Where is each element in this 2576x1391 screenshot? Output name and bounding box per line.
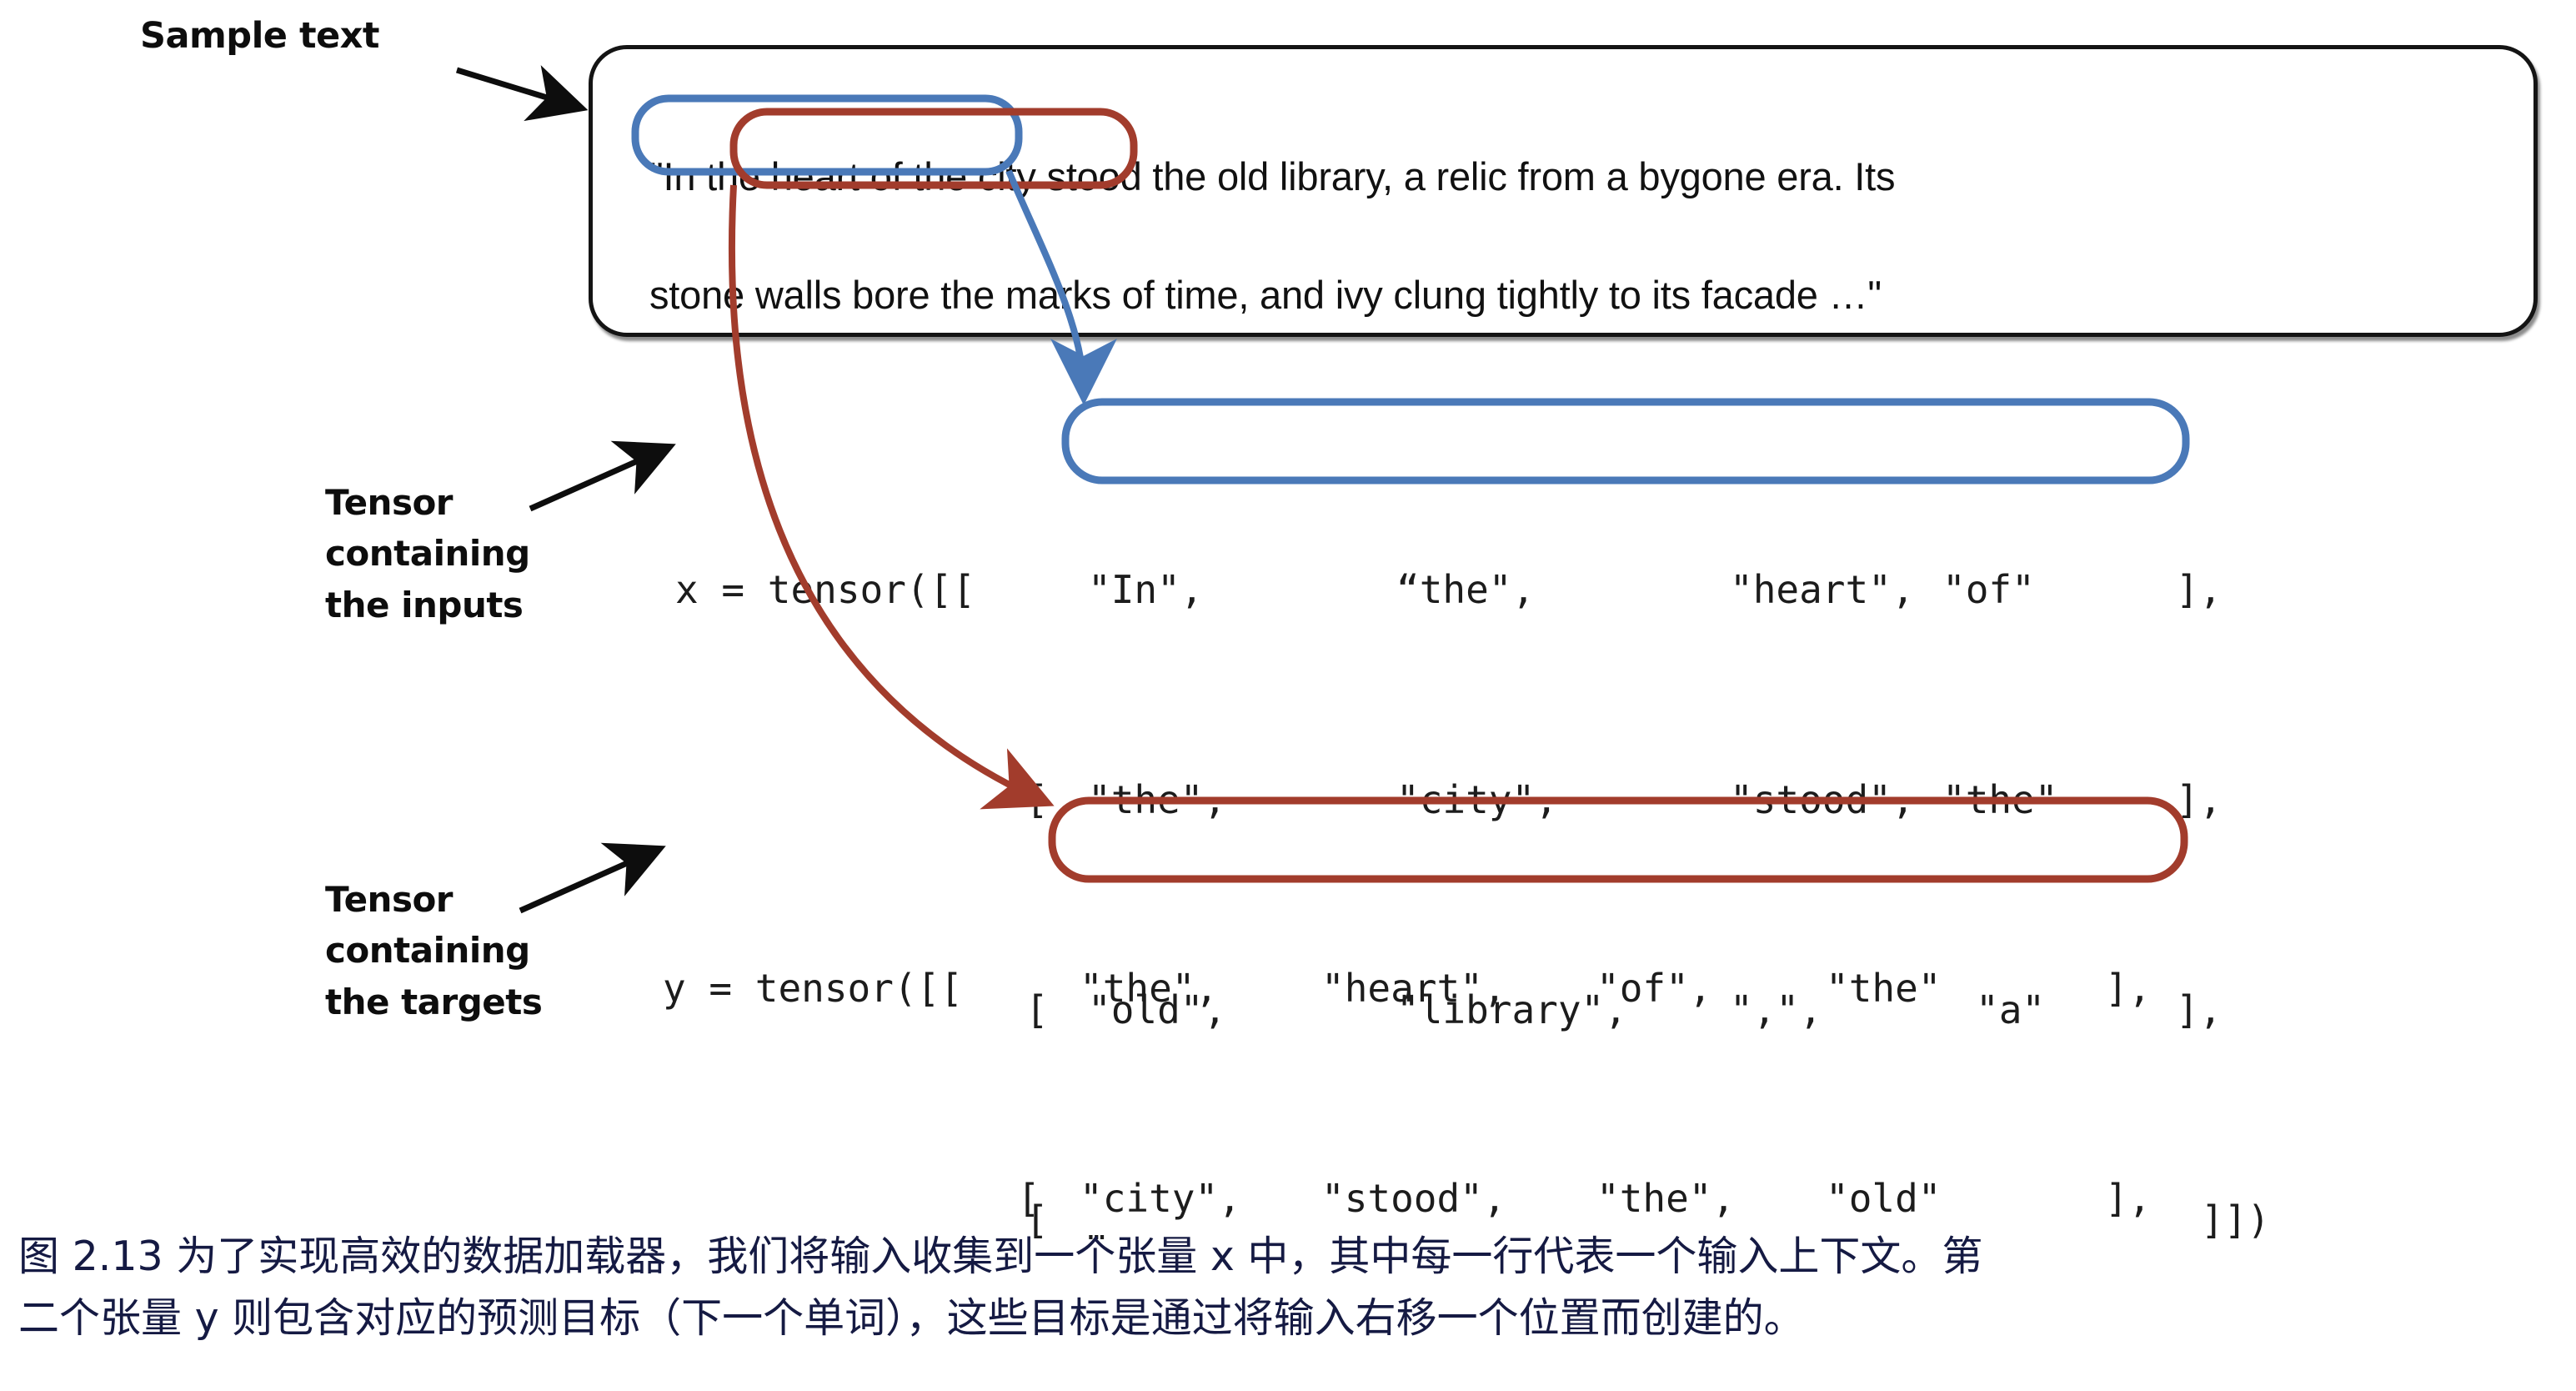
sample-text-box: "In the heart of the city stood the old … bbox=[589, 45, 2538, 337]
tensor-y-row-2: [ “library", "a", "relic", "from" ], bbox=[663, 1373, 801, 1391]
tensor-inputs-annotation-label: Tensor containing the inputs bbox=[325, 477, 530, 630]
tensor-y-cell-1-1: "stood", bbox=[1321, 1163, 1506, 1233]
sample-text-line-2: stone walls bore the marks of time, and … bbox=[649, 272, 1882, 318]
tensor-y-close-0: ], bbox=[2105, 953, 2151, 1023]
figure-canvas: Sample text Tensor containing the inputs… bbox=[0, 0, 2576, 1391]
tensor-x-prefix: x = tensor([[ bbox=[675, 555, 975, 625]
tensor-y-close-2: ], bbox=[2105, 1373, 2151, 1391]
tensor-y-open-1: [ bbox=[1017, 1163, 1040, 1233]
tensor-y-cell-2-1: "a", bbox=[1321, 1373, 1414, 1391]
tensor-x-cell-0-1: “the", bbox=[1396, 555, 1535, 625]
tensor-x-cell-2-3: "a" bbox=[1976, 975, 2045, 1045]
tensor-x-cell-1-1: "city", bbox=[1396, 765, 1558, 835]
tensor-y-cell-1-3: "old" bbox=[1826, 1163, 1941, 1233]
tensor-y-cell-0-0: "the", bbox=[1080, 953, 1218, 1023]
tensor-y-cell-2-2: "relic", bbox=[1596, 1373, 1782, 1391]
tensor-y-row-0: y = tensor([[ "the", "heart", "of", "the… bbox=[663, 953, 801, 1023]
sample-text-line-1: "In the heart of the city stood the old … bbox=[649, 153, 1895, 199]
figure-caption: 图 2.13 为了实现高效的数据加载器，我们将输入收集到一个张量 x 中，其中每… bbox=[18, 1226, 2561, 1350]
tensor-x-close-2: ], bbox=[2176, 975, 2222, 1045]
tensor-y-cell-0-1: "heart", bbox=[1321, 953, 1506, 1023]
tensor-targets-annotation-label: Tensor containing the targets bbox=[325, 874, 542, 1027]
tensor-y-cell-1-0: "city", bbox=[1080, 1163, 1241, 1233]
tensor-y-close-1: ], bbox=[2105, 1163, 2151, 1233]
tensor-x-close-0: ], bbox=[2176, 555, 2222, 625]
tensor-y-cell-2-0: “library", bbox=[1071, 1373, 1302, 1391]
sample-text-leader-arrow bbox=[457, 70, 577, 107]
tensor-y-cell-1-2: "the", bbox=[1596, 1163, 1735, 1233]
tensor-x-cell-0-0: "In", bbox=[1088, 555, 1203, 625]
tensor-y-cell-0-3: "the" bbox=[1826, 953, 1941, 1023]
tensor-inputs-leader-arrow bbox=[530, 449, 665, 509]
tensor-x-cell-2-2: ",", bbox=[1730, 975, 1822, 1045]
tensor-x-row-0: x = tensor([[ "In", “the", "heart", "of"… bbox=[675, 555, 814, 625]
tensor-y-cell-2-3: "from" bbox=[1826, 1373, 1964, 1391]
tensor-x-close-1: ], bbox=[2176, 765, 2222, 835]
tensor-x-cell-1-3: "the" bbox=[1942, 765, 2057, 835]
tensor-x-cell-0-2: "heart", bbox=[1730, 555, 1915, 625]
caption-line-2: 二个张量 y 则包含对应的预测目标（下一个单词），这些目标是通过将输入右移一个位… bbox=[18, 1288, 2561, 1349]
tensor-x-cell-1-2: "stood", bbox=[1730, 765, 1915, 835]
tensor-x-cell-0-3: "of" bbox=[1942, 555, 2035, 625]
tensor-y-open-2: [ bbox=[1017, 1373, 1040, 1391]
caption-line-1: 图 2.13 为了实现高效的数据加载器，我们将输入收集到一个张量 x 中，其中每… bbox=[18, 1226, 2561, 1288]
tensor-x-open-1: [ bbox=[1025, 765, 1049, 835]
tensor-y-row-1: [ "city", "stood", "the", "old" ], bbox=[663, 1163, 801, 1233]
tensor-x-cell-1-0: "the", bbox=[1088, 765, 1226, 835]
tensor-y-prefix: y = tensor([[ bbox=[663, 953, 963, 1023]
tensor-y-cell-0-2: "of", bbox=[1596, 953, 1711, 1023]
sample-text-annotation-label: Sample text bbox=[140, 15, 379, 58]
tensor-x-row0-highlight-rect bbox=[1065, 402, 2186, 480]
tensor-x-open-2: [ bbox=[1025, 975, 1049, 1045]
